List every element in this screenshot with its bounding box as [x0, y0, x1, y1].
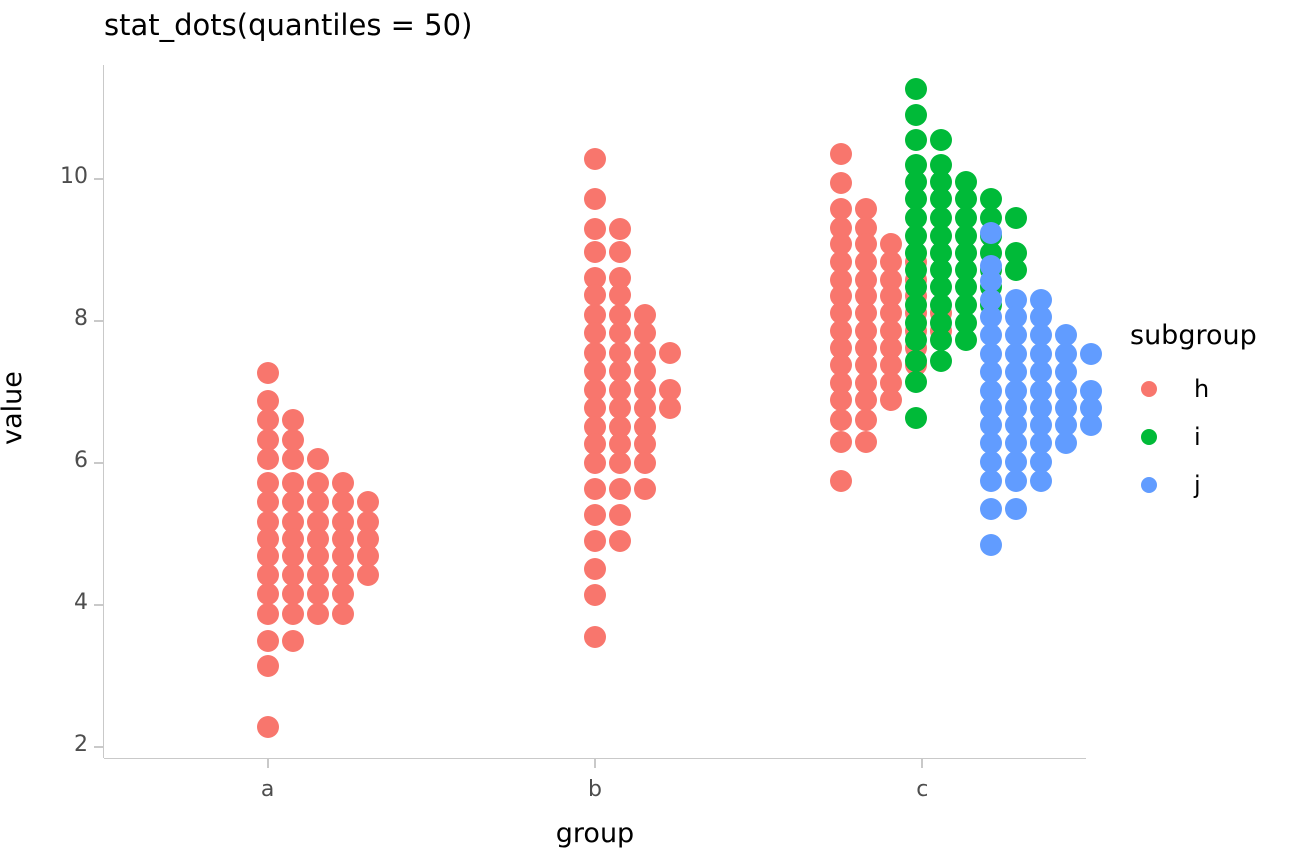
legend-items: hij: [1124, 365, 1294, 509]
data-dot: [584, 478, 606, 500]
legend-key-icon: [1132, 468, 1166, 502]
data-dot: [830, 409, 852, 431]
legend-label: i: [1194, 423, 1201, 451]
data-dot: [609, 478, 631, 500]
y-tick-label: 6: [28, 448, 88, 473]
data-dot: [584, 558, 606, 580]
data-dot: [659, 397, 681, 419]
data-dot: [830, 172, 852, 194]
data-dot: [830, 389, 852, 411]
data-dot: [634, 478, 656, 500]
legend-key-icon: [1132, 420, 1166, 454]
y-tick-mark: [94, 604, 103, 606]
data-dot: [307, 448, 329, 470]
y-tick-label: 2: [28, 732, 88, 757]
data-dot: [1080, 343, 1102, 365]
data-dot: [282, 583, 304, 605]
data-dot: [905, 104, 927, 126]
data-dot: [855, 409, 877, 431]
x-tick-label: c: [892, 777, 952, 802]
data-dot: [257, 583, 279, 605]
y-tick-mark: [94, 462, 103, 464]
data-dot: [257, 603, 279, 625]
data-dot: [257, 448, 279, 470]
legend-swatch-j: [1141, 477, 1157, 493]
x-tick-mark: [267, 759, 269, 768]
data-dot: [634, 452, 656, 474]
data-dot: [332, 583, 354, 605]
legend-swatch-i: [1141, 429, 1157, 445]
legend-swatch-h: [1141, 381, 1157, 397]
legend-label: j: [1194, 471, 1201, 499]
data-dot: [855, 389, 877, 411]
y-tick-mark: [94, 320, 103, 322]
data-dot: [980, 498, 1002, 520]
data-dot: [357, 564, 379, 586]
data-dot: [1005, 498, 1027, 520]
legend-key-icon: [1132, 372, 1166, 406]
data-dot: [584, 284, 606, 306]
data-dot: [609, 452, 631, 474]
data-dot: [980, 534, 1002, 556]
data-dot: [257, 491, 279, 513]
data-dot: [257, 362, 279, 384]
data-dot: [930, 350, 952, 372]
data-dot: [634, 322, 656, 344]
data-dot: [584, 188, 606, 210]
data-dot: [307, 491, 329, 513]
data-dot: [609, 322, 631, 344]
data-dot: [307, 583, 329, 605]
legend-label: h: [1194, 375, 1209, 403]
data-dot: [930, 129, 952, 151]
legend: subgroup hij: [1124, 320, 1294, 509]
data-dot: [905, 371, 927, 393]
data-dot: [357, 491, 379, 513]
y-tick-mark: [94, 178, 103, 180]
legend-item-i[interactable]: i: [1124, 413, 1294, 461]
data-dot: [609, 530, 631, 552]
data-dot: [282, 448, 304, 470]
data-dot: [609, 218, 631, 240]
y-axis-title: value: [0, 308, 28, 508]
data-dot: [1055, 432, 1077, 454]
x-tick-mark: [921, 759, 923, 768]
data-dot: [584, 148, 606, 170]
data-dot: [282, 603, 304, 625]
data-dot: [905, 407, 927, 429]
data-dot: [584, 322, 606, 344]
data-dot: [930, 329, 952, 351]
data-dot: [830, 143, 852, 165]
data-dot: [609, 284, 631, 306]
data-dot: [584, 241, 606, 263]
data-dot: [584, 626, 606, 648]
data-dot: [282, 630, 304, 652]
x-tick-label: b: [565, 777, 625, 802]
data-dot: [830, 431, 852, 453]
data-dot: [332, 603, 354, 625]
data-dot: [905, 129, 927, 151]
data-dot: [584, 584, 606, 606]
data-dot: [257, 716, 279, 738]
data-dot: [257, 429, 279, 451]
data-dot: [257, 655, 279, 677]
data-dot: [830, 470, 852, 492]
legend-item-j[interactable]: j: [1124, 461, 1294, 509]
x-tick-mark: [594, 759, 596, 768]
data-dot: [1030, 470, 1052, 492]
data-dot: [1005, 207, 1027, 229]
data-dot: [332, 491, 354, 513]
x-axis-title: group: [104, 818, 1086, 849]
data-dot: [282, 491, 304, 513]
data-dot: [307, 603, 329, 625]
data-dot: [257, 630, 279, 652]
data-dot: [905, 350, 927, 372]
y-tick-label: 4: [28, 590, 88, 615]
y-tick-mark: [94, 746, 103, 748]
data-dot: [584, 530, 606, 552]
plot-panel: [104, 65, 1086, 758]
data-dot: [584, 218, 606, 240]
data-dot: [955, 329, 977, 351]
y-tick-label: 8: [28, 306, 88, 331]
x-tick-label: a: [238, 777, 298, 802]
plot-root: stat_dots(quantiles = 50) value group 24…: [0, 0, 1296, 864]
data-dot: [282, 429, 304, 451]
data-dot: [1005, 259, 1027, 281]
legend-title: subgroup: [1130, 320, 1294, 351]
data-dot: [659, 342, 681, 364]
page-title: stat_dots(quantiles = 50): [104, 8, 472, 42]
data-dot: [609, 504, 631, 526]
data-dot: [905, 78, 927, 100]
data-dot: [609, 241, 631, 263]
data-dot: [855, 431, 877, 453]
y-tick-label: 10: [28, 164, 88, 189]
data-dot: [880, 389, 902, 411]
data-dot: [584, 452, 606, 474]
legend-item-h[interactable]: h: [1124, 365, 1294, 413]
data-dot: [980, 470, 1002, 492]
data-dot: [584, 504, 606, 526]
data-dot: [1080, 414, 1102, 436]
data-dot: [1005, 470, 1027, 492]
